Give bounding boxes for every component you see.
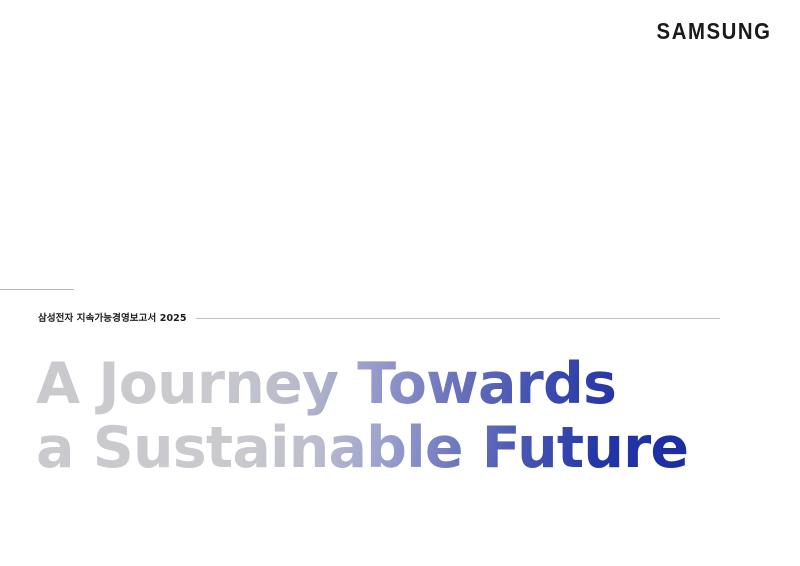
samsung-logo: SAMSUNG <box>657 20 772 44</box>
cover-headline: A Journey Towards a Sustainable Future <box>36 352 736 480</box>
headline-line-2: a Sustainable Future <box>36 416 736 480</box>
decorative-rule-top-left <box>0 289 74 290</box>
report-cover-page: SAMSUNG 삼성전자 지속가능경영보고서 2025 A Journey To… <box>0 0 800 566</box>
report-caption-row: 삼성전자 지속가능경영보고서 2025 <box>38 314 760 324</box>
report-title-caption: 삼성전자 지속가능경영보고서 2025 <box>38 314 187 324</box>
headline-line-1: A Journey Towards <box>36 352 736 416</box>
decorative-rule-caption <box>196 318 720 319</box>
